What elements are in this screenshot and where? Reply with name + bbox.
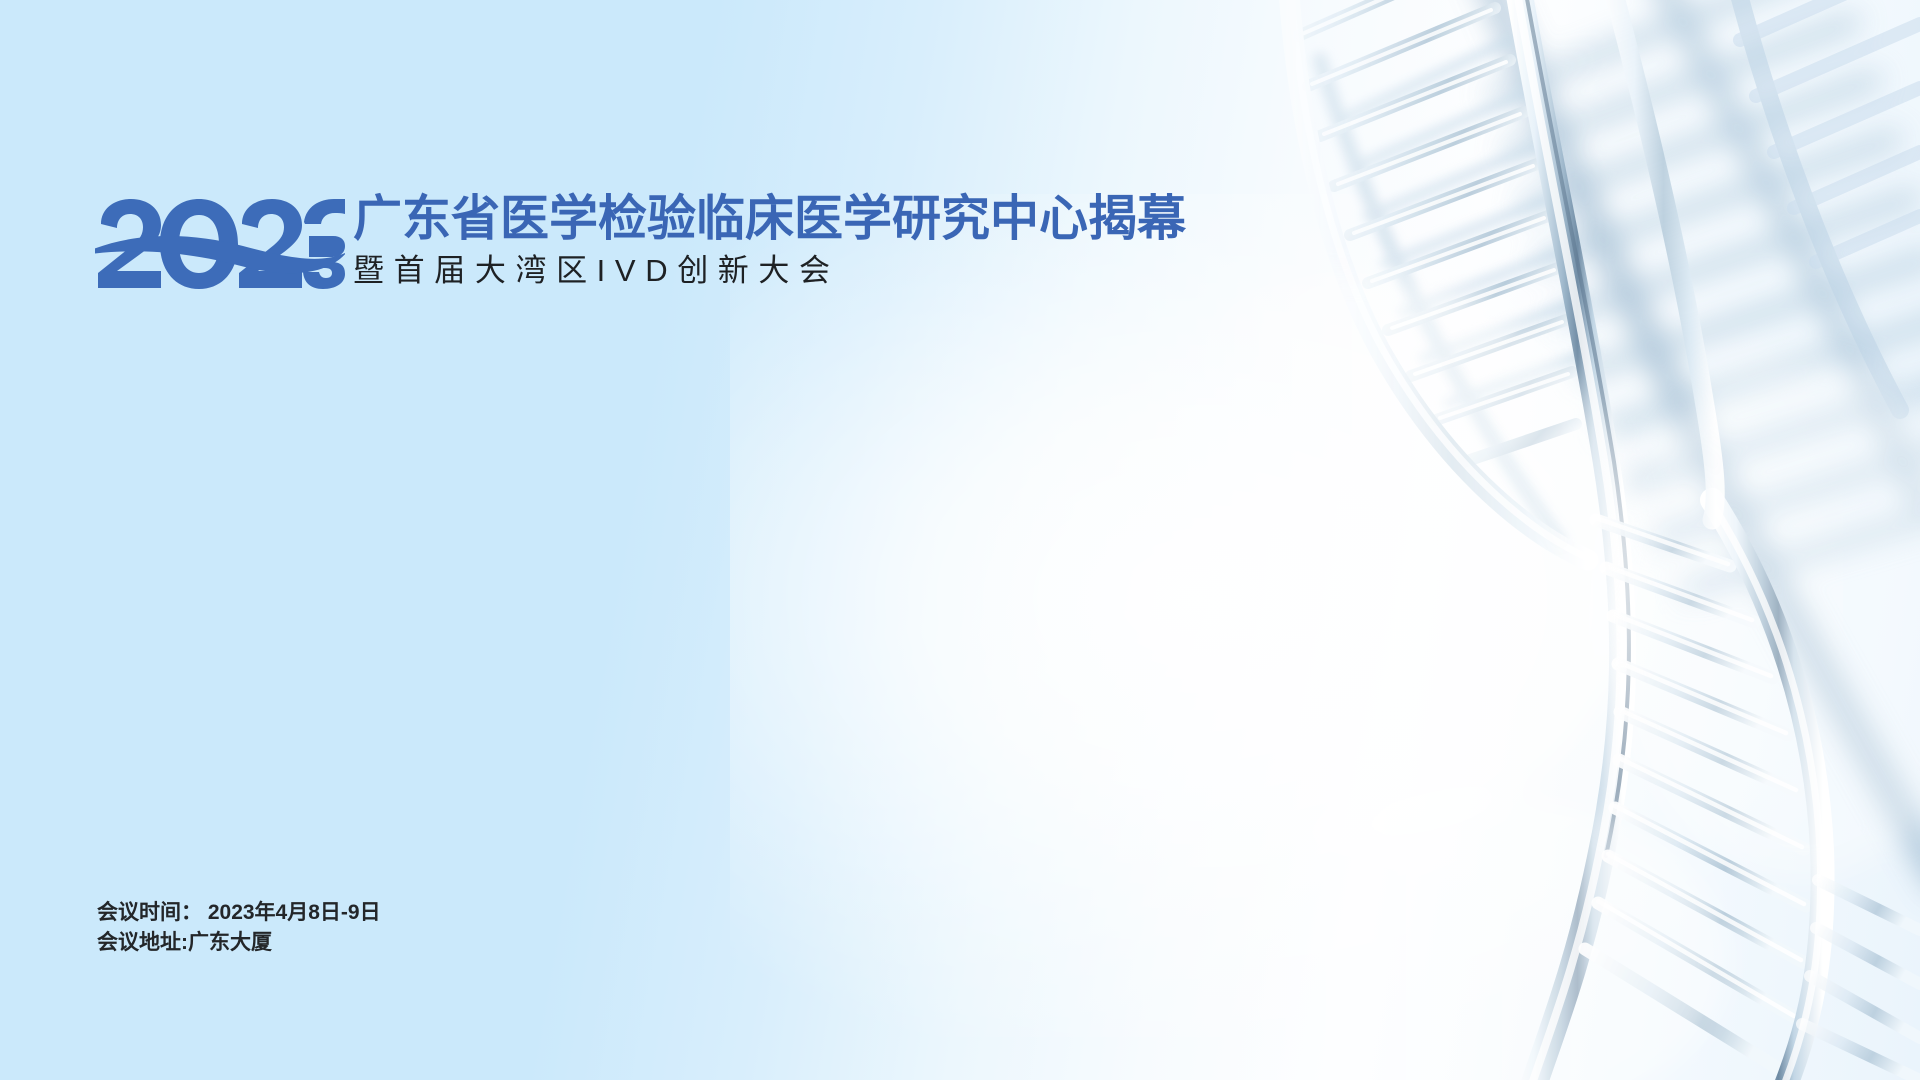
brand-block: 广东省医学检验临床医学研究中心揭幕 暨 首 届 大 湾 区 I V D 创 新 … — [95, 192, 1186, 290]
headline-column: 广东省医学检验临床医学研究中心揭幕 暨 首 届 大 湾 区 I V D 创 新 … — [353, 192, 1186, 288]
conference-time: 会议时间： 2023年4月8日-9日 — [97, 898, 381, 928]
conference-details: 会议时间： 2023年4月8日-9日 会议地址:广东大厦 — [97, 898, 381, 959]
dna-helix-artwork — [1040, 0, 1920, 1080]
conference-title-main: 广东省医学检验临床医学研究中心揭幕 — [353, 194, 1186, 245]
year-logo-icon — [95, 198, 345, 290]
conference-address: 会议地址:广东大厦 — [97, 928, 381, 958]
conference-banner: 广东省医学检验临床医学研究中心揭幕 暨 首 届 大 湾 区 I V D 创 新 … — [0, 0, 1920, 1080]
conference-title-sub: 暨 首 届 大 湾 区 I V D 创 新 大 会 — [353, 254, 1186, 288]
year-logo-2023 — [95, 198, 345, 290]
